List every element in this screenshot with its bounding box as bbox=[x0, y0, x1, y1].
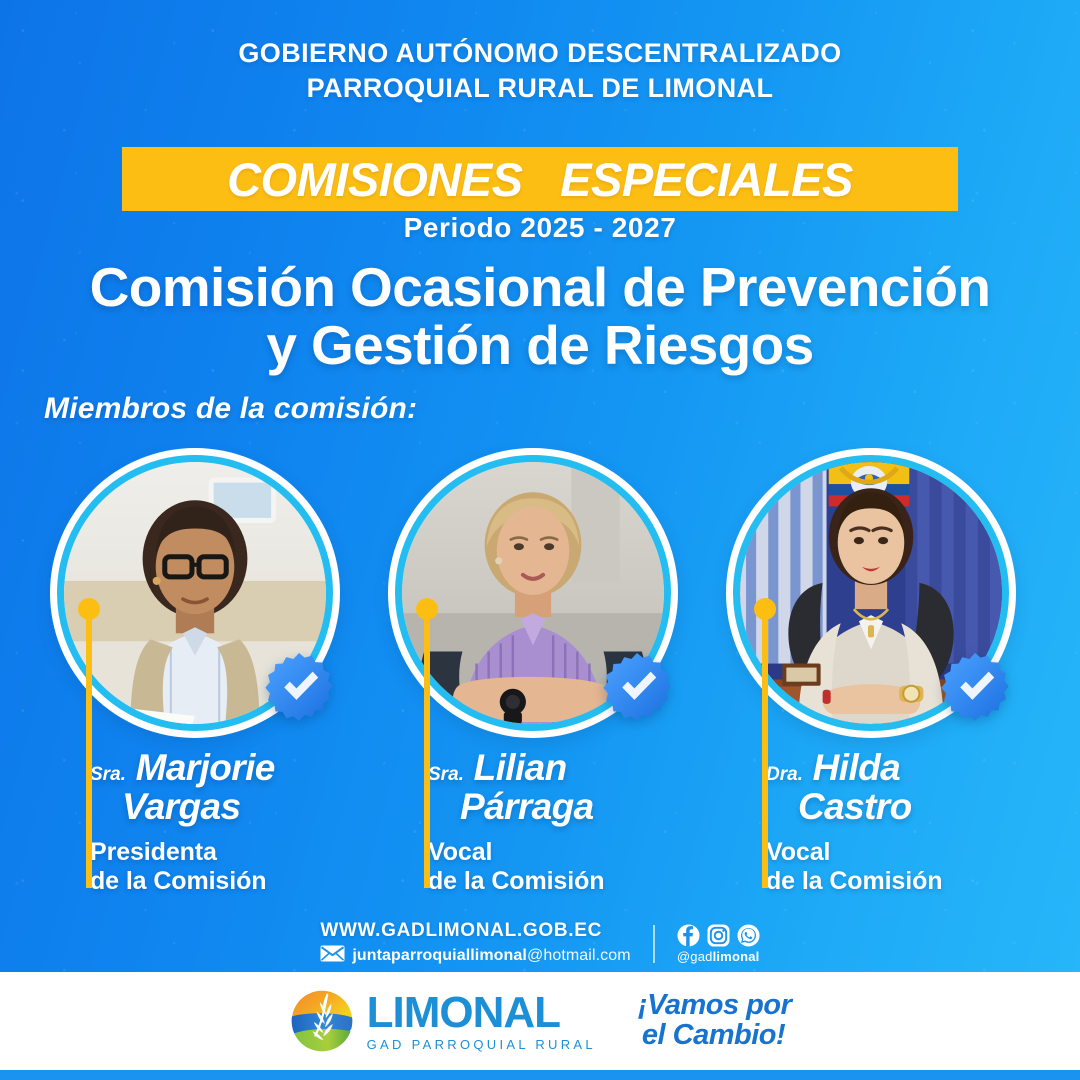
member-last-name: Castro bbox=[766, 787, 1051, 826]
member-name: Sra. Lilian Párraga bbox=[428, 748, 713, 826]
member-role-line-1: Vocal bbox=[766, 838, 1051, 867]
brand-wordmark: LIMONAL GAD PARROQUIAL RURAL bbox=[367, 991, 596, 1051]
email-address: juntaparroquiallimonal@hotmail.com bbox=[352, 947, 630, 965]
email-row[interactable]: juntaparroquiallimonal@hotmail.com bbox=[320, 945, 630, 967]
verified-check-icon bbox=[262, 650, 336, 724]
member-name: Sra. Marjorie Vargas bbox=[90, 748, 375, 826]
facebook-icon[interactable] bbox=[677, 924, 700, 947]
slogan: ¡Vamos por el Cambio! bbox=[638, 991, 791, 1051]
period-label: Periodo 2025 - 2027 bbox=[0, 212, 1080, 244]
brand-name: LIMONAL bbox=[367, 991, 596, 1035]
member-last-name: Párraga bbox=[428, 787, 713, 826]
member-last-name: Vargas bbox=[90, 787, 375, 826]
pin-marker-icon bbox=[78, 598, 100, 888]
member-role-line-2: de la Comisión bbox=[428, 867, 713, 896]
whatsapp-icon[interactable] bbox=[737, 924, 760, 947]
member-role-line-1: Vocal bbox=[428, 838, 713, 867]
member-name: Dra. Hilda Castro bbox=[766, 748, 1051, 826]
commission-title: Comisión Ocasional de Prevención y Gesti… bbox=[0, 258, 1080, 375]
email-domain: @hotmail.com bbox=[527, 947, 631, 964]
org-header-line-1: GOBIERNO AUTÓNOMO DESCENTRALIZADO bbox=[0, 36, 1080, 71]
organization-header: GOBIERNO AUTÓNOMO DESCENTRALIZADO PARROQ… bbox=[0, 36, 1080, 105]
member-role: Vocal de la Comisión bbox=[766, 838, 1051, 896]
pin-stem bbox=[86, 612, 92, 888]
verified-check-icon bbox=[938, 650, 1012, 724]
poster-canvas: GOBIERNO AUTÓNOMO DESCENTRALIZADO PARROQ… bbox=[0, 0, 1080, 1080]
envelope-icon bbox=[320, 945, 345, 967]
member-role: Presidenta de la Comisión bbox=[90, 838, 375, 896]
member-role-line-2: de la Comisión bbox=[766, 867, 1051, 896]
pin-stem bbox=[424, 612, 430, 888]
instagram-icon[interactable] bbox=[707, 924, 730, 947]
social-handle: @gadlimonal bbox=[677, 949, 760, 964]
pin-marker-icon bbox=[416, 598, 438, 888]
contact-divider bbox=[653, 925, 655, 963]
commissions-banner: COMISIONES ESPECIALES bbox=[122, 147, 958, 211]
handle-bold: limonal bbox=[713, 949, 760, 964]
member-text-block: Dra. Hilda Castro Vocal de la Comisión bbox=[766, 748, 1051, 896]
org-header-line-2: PARROQUIAL RURAL DE LIMONAL bbox=[0, 71, 1080, 106]
member-first-name: Hilda bbox=[813, 747, 900, 788]
commissions-banner-text: COMISIONES ESPECIALES bbox=[227, 156, 853, 203]
brand-subtitle: GAD PARROQUIAL RURAL bbox=[367, 1038, 596, 1051]
member-first-name: Marjorie bbox=[136, 747, 275, 788]
footer-accent-strip bbox=[0, 1070, 1080, 1080]
brand-lockup: LIMONAL GAD PARROQUIAL RURAL bbox=[289, 988, 596, 1054]
contact-strip: WWW.GADLIMONAL.GOB.EC juntaparroquiallim… bbox=[0, 920, 1080, 967]
member-role-line-1: Presidenta bbox=[90, 838, 375, 867]
slogan-line-1: ¡Vamos por bbox=[638, 991, 791, 1021]
pin-marker-icon bbox=[754, 598, 776, 888]
verified-check-icon bbox=[600, 650, 674, 724]
limonal-emblem-icon bbox=[289, 988, 355, 1054]
member-text-block: Sra. Marjorie Vargas Presidenta de la Co… bbox=[90, 748, 375, 896]
slogan-line-2: el Cambio! bbox=[638, 1021, 791, 1051]
members-label: Miembros de la comisión: bbox=[44, 392, 417, 426]
pin-stem bbox=[762, 612, 768, 888]
member-role: Vocal de la Comisión bbox=[428, 838, 713, 896]
banner-word-especiales: ESPECIALES bbox=[560, 153, 853, 206]
member-first-name: Lilian bbox=[474, 747, 567, 788]
contact-right-block: @gadlimonal bbox=[677, 924, 760, 964]
social-icons-row bbox=[677, 924, 760, 947]
handle-prefix: @gad bbox=[677, 949, 713, 964]
member-role-line-2: de la Comisión bbox=[90, 867, 375, 896]
banner-word-comisiones: COMISIONES bbox=[227, 153, 522, 206]
commission-title-line-1: Comisión Ocasional de Prevención bbox=[0, 258, 1080, 316]
member-text-block: Sra. Lilian Párraga Vocal de la Comisión bbox=[428, 748, 713, 896]
commission-title-line-2: y Gestión de Riesgos bbox=[0, 316, 1080, 374]
footer-bar: LIMONAL GAD PARROQUIAL RURAL ¡Vamos por … bbox=[0, 972, 1080, 1070]
website-url[interactable]: WWW.GADLIMONAL.GOB.EC bbox=[320, 920, 630, 942]
contact-left-block: WWW.GADLIMONAL.GOB.EC juntaparroquiallim… bbox=[320, 920, 630, 967]
email-user: juntaparroquiallimonal bbox=[352, 947, 527, 964]
